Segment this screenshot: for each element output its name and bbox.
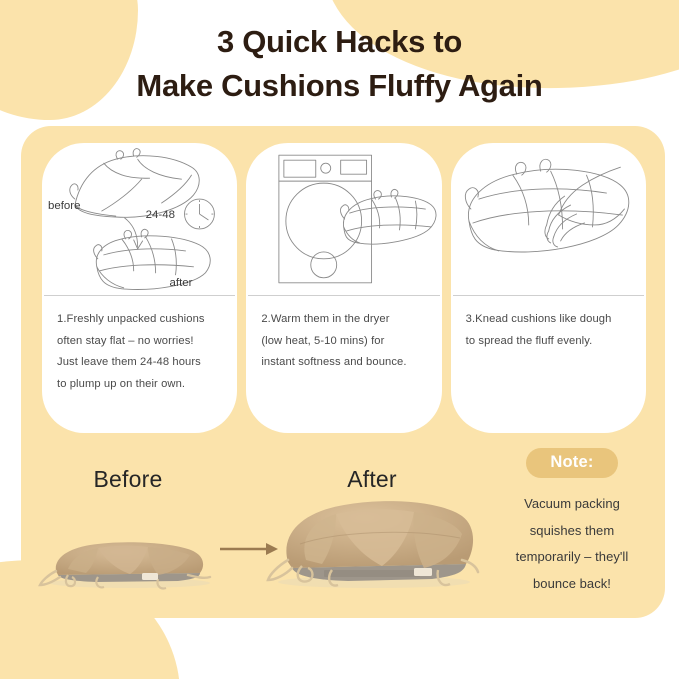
note-block: Note: Vacuum packing squishes them tempo… — [492, 448, 652, 598]
step-1-after-label: after — [170, 277, 193, 289]
infographic-canvas: 3 Quick Hacks to Make Cushions Fluffy Ag… — [0, 0, 679, 679]
step-1-text: 1.Freshly unpacked cushions often stay f… — [42, 296, 237, 395]
step-1-line-1: 1.Freshly unpacked cushions — [57, 309, 222, 331]
step-card-2: 2.Warm them in the dryer (low heat, 5-10… — [246, 143, 441, 433]
after-label: After — [302, 466, 442, 493]
before-label: Before — [58, 466, 198, 493]
step-1-duration-label: 24-48 — [146, 209, 175, 221]
step-3-line-1: 3.Knead cushions like dough — [466, 309, 631, 331]
cushion-photo-before — [38, 515, 223, 595]
step-2-illustration — [246, 143, 441, 295]
note-body: Vacuum packing squishes them temporarily… — [492, 491, 652, 598]
step-3-text: 3.Knead cushions like dough to spread th… — [451, 296, 646, 352]
step-1-line-2: often stay flat – no worries! — [57, 331, 222, 353]
title-line-1: 3 Quick Hacks to — [0, 20, 679, 64]
note-line-1: Vacuum packing — [492, 491, 652, 518]
steps-card-row: before after 24-48 1.Freshly unpacked cu… — [42, 143, 646, 433]
note-line-2: squishes them — [492, 518, 652, 545]
step-2-line-1: 2.Warm them in the dryer — [261, 309, 426, 331]
step-card-1: before after 24-48 1.Freshly unpacked cu… — [42, 143, 237, 433]
note-line-3: temporarily – they'll — [492, 544, 652, 571]
step-1-line-4: to plump up on their own. — [57, 374, 222, 396]
step-2-text: 2.Warm them in the dryer (low heat, 5-10… — [246, 296, 441, 374]
step-3-line-2: to spread the fluff evenly. — [466, 331, 631, 353]
note-line-4: bounce back! — [492, 571, 652, 598]
page-title: 3 Quick Hacks to Make Cushions Fluffy Ag… — [0, 20, 679, 108]
step-2-line-2: (low heat, 5-10 mins) for — [261, 331, 426, 353]
before-after-arrow-icon — [218, 538, 280, 560]
step-3-illustration — [451, 143, 646, 295]
step-1-before-label: before — [48, 200, 80, 212]
title-line-2: Make Cushions Fluffy Again — [0, 64, 679, 108]
note-pill-label: Note: — [526, 448, 617, 478]
cushion-photo-after — [266, 490, 481, 595]
step-1-illustration: before after 24-48 — [42, 143, 237, 295]
step-card-3: 3.Knead cushions like dough to spread th… — [451, 143, 646, 433]
step-2-line-3: instant softness and bounce. — [261, 352, 426, 374]
step-1-line-3: Just leave them 24-48 hours — [57, 352, 222, 374]
